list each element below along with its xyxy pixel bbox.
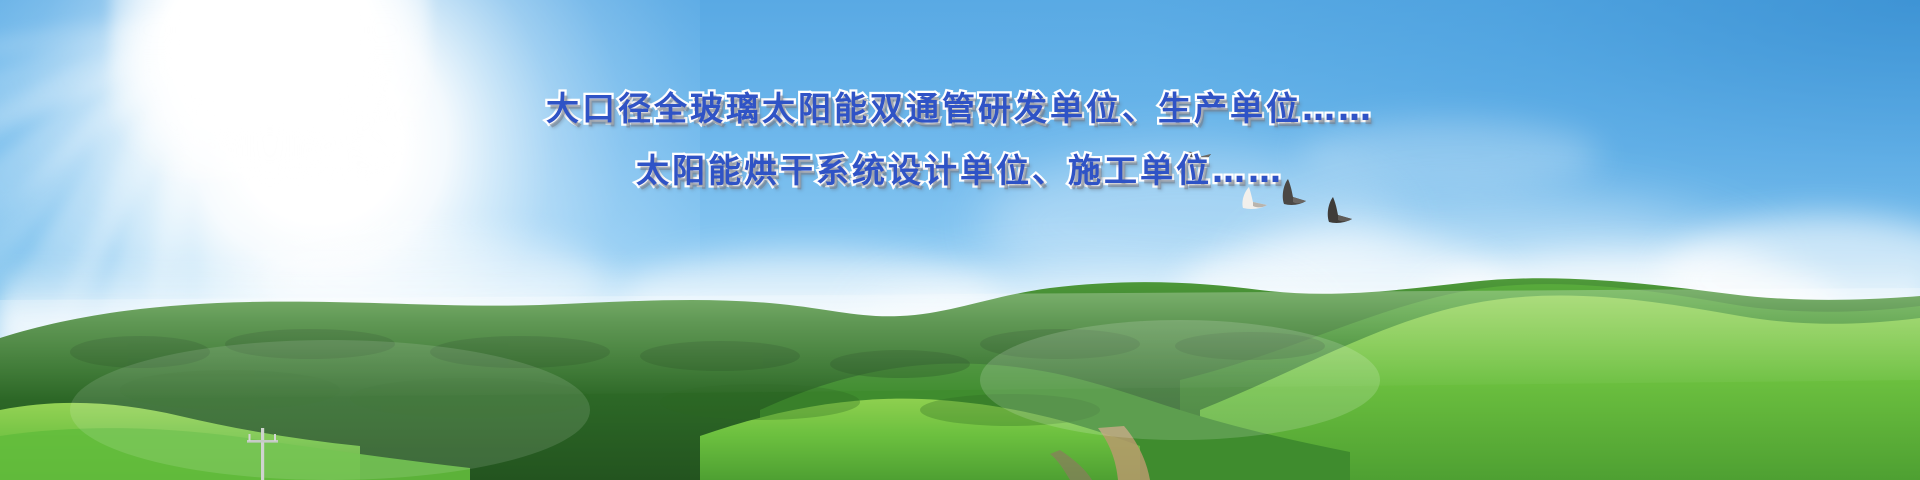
utility-pole	[0, 260, 1920, 480]
bird-icon	[1322, 196, 1354, 224]
bird-icon	[1238, 185, 1270, 211]
bird-icon	[1180, 148, 1214, 172]
sun-icon	[110, 0, 430, 180]
bird-icon	[1276, 178, 1308, 206]
hero-banner: 大口径全玻璃太阳能双通管研发单位、生产单位…… 太阳能烘干系统设计单位、施工单位…	[0, 0, 1920, 480]
